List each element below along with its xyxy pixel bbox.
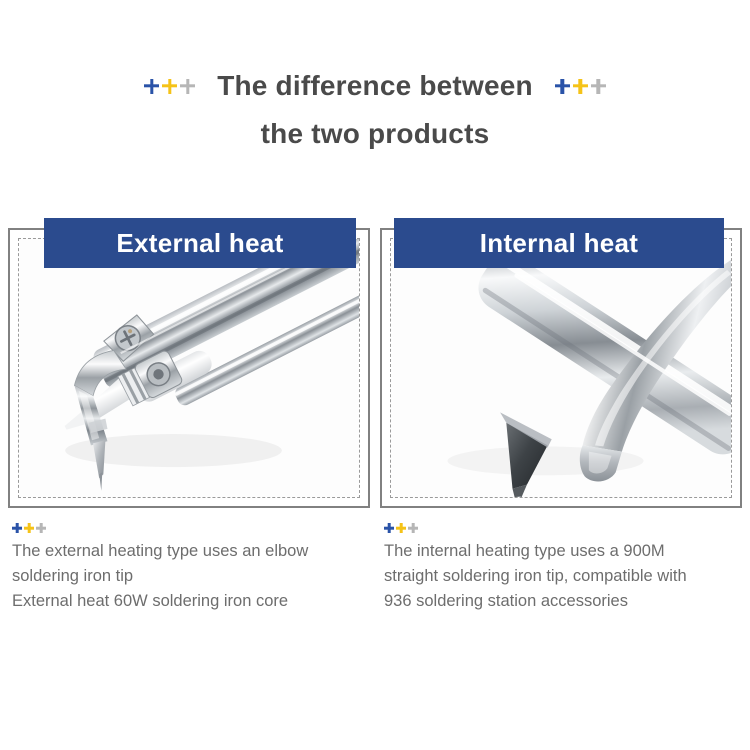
comparison-section: External heat The external heating type … [0,228,750,614]
caption-line: soldering iron tip [12,564,370,589]
heading-line-one-row: The difference between [0,72,750,100]
plus-triad-icon-left [144,79,195,94]
card-dashed-frame [18,238,360,498]
plus-icon-yellow [396,523,406,533]
comparison-card-external-heat: External heat The external heating type … [8,228,370,614]
plus-icon-blue [12,523,22,533]
page-title-line-2: the two products [0,118,750,150]
caption-line: straight soldering iron tip, compatible … [384,564,742,589]
comparison-card-internal-heat: Internal heat The internal heating type … [380,228,742,614]
plus-icon-blue [555,79,570,94]
caption-line: 936 soldering station accessories [384,589,742,614]
card-banner-label: Internal heat [480,228,639,259]
plus-icon-gray [180,79,195,94]
plus-icon-yellow [24,523,34,533]
plus-triad-icon-right [555,79,606,94]
plus-icon-yellow [162,79,177,94]
page-header: The difference between the two products [0,0,750,150]
elbow-soldering-iron-tip-photo [19,239,359,497]
card-caption-external-heat: The external heating type uses an elbow … [8,520,370,614]
card-dashed-frame [390,238,732,498]
card-outer-frame: Internal heat [380,228,742,508]
card-caption-internal-heat: The internal heating type uses a 900M st… [380,520,742,614]
plus-icon-yellow [573,79,588,94]
plus-icon-gray [408,523,418,533]
plus-icon-gray [591,79,606,94]
card-outer-frame: External heat [8,228,370,508]
plus-icon-blue [384,523,394,533]
card-banner-internal-heat: Internal heat [394,218,724,268]
caption-line: The external heating type uses an elbow [12,539,370,564]
straight-soldering-iron-tip-photo [391,239,731,497]
plus-icon-blue [144,79,159,94]
plus-triad-icon-caption [12,523,46,533]
plus-icon-gray [36,523,46,533]
card-banner-external-heat: External heat [44,218,356,268]
page-title-line-1: The difference between [217,72,533,100]
caption-line: External heat 60W soldering iron core [12,589,370,614]
plus-triad-icon-caption [384,523,418,533]
caption-line: The internal heating type uses a 900M [384,539,742,564]
card-banner-label: External heat [116,228,283,259]
